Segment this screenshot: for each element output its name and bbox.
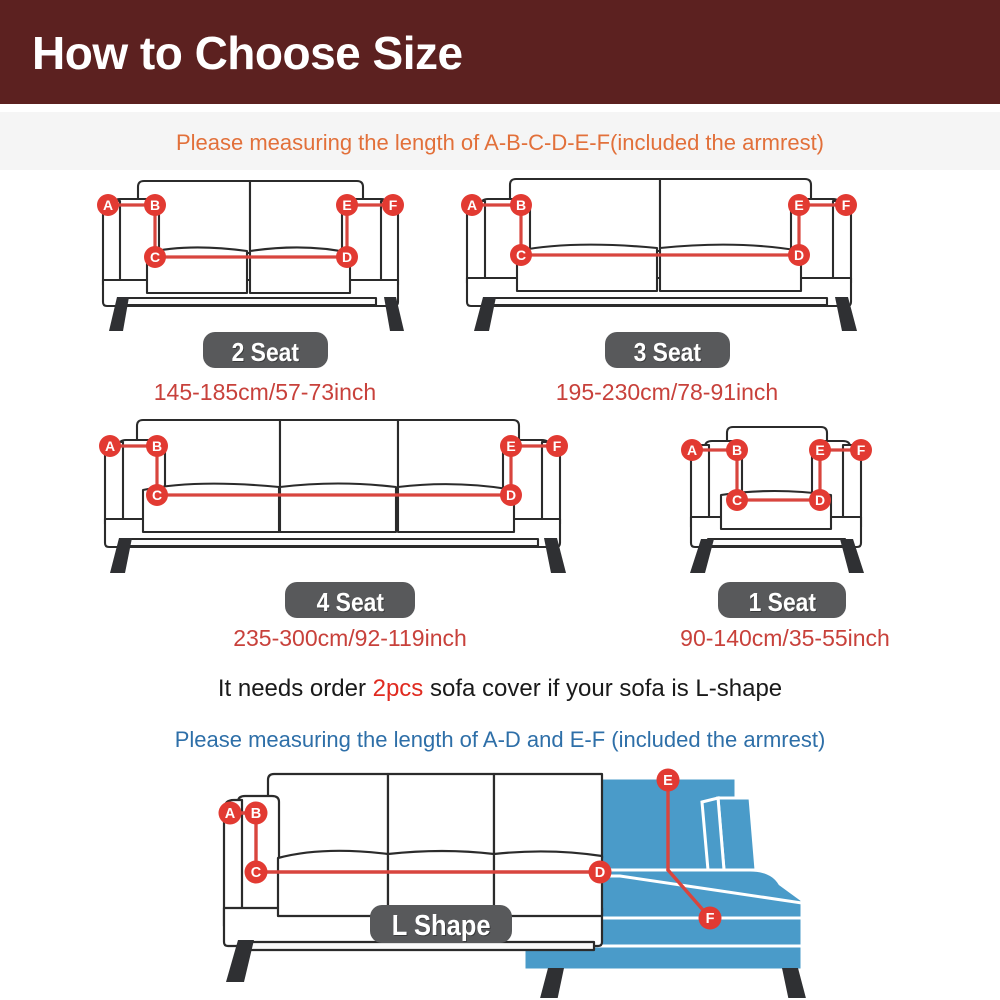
marker-label-f: F xyxy=(553,438,562,454)
marker-label-f: F xyxy=(706,911,715,927)
marker-label-e: E xyxy=(342,197,351,213)
one-seat-sofa-illustration: A B C D E F xyxy=(655,425,905,585)
badge-three-seat: 3 Seat xyxy=(605,332,730,368)
lshape-note-highlight: 2pcs xyxy=(373,675,424,702)
page-header: How to Choose Size xyxy=(0,0,1000,104)
sofa-card-one-seat: A B C D E F xyxy=(655,425,905,585)
marker-label-e: E xyxy=(815,442,824,458)
dims-two-seat: 145-185cm/57-73inch xyxy=(70,379,460,406)
lshape-sofa-illustration: A B C D E F xyxy=(190,758,830,998)
sofa-card-four-seat: A B C D E F xyxy=(95,418,575,583)
dims-one-seat: 90-140cm/35-55inch xyxy=(625,625,945,652)
badge-one-seat: 1 Seat xyxy=(718,582,846,618)
marker-label-a: A xyxy=(687,442,697,458)
two-seat-sofa-illustration: A B C D E F xyxy=(95,175,425,340)
marker-label-c: C xyxy=(732,492,742,508)
dims-three-seat: 195-230cm/78-91inch xyxy=(472,379,862,406)
marker-label-c: C xyxy=(251,865,262,881)
lshape-note-suffix: sofa cover if your sofa is L-shape xyxy=(423,675,782,702)
lshape-instruction: Please measuring the length of A-D and E… xyxy=(0,727,1000,753)
marker-label-f: F xyxy=(389,197,398,213)
lshape-note-prefix: It needs order xyxy=(218,675,373,702)
marker-label-f: F xyxy=(857,442,866,458)
marker-label-e: E xyxy=(794,197,803,213)
marker-label-b: B xyxy=(516,197,526,213)
badge-lshape: L Shape xyxy=(370,905,512,943)
four-seat-sofa-illustration: A B C D E F xyxy=(95,418,575,583)
marker-label-f: F xyxy=(842,197,851,213)
marker-label-c: C xyxy=(152,487,162,503)
size-guide-page: How to Choose Size Please measuring the … xyxy=(0,0,1000,1000)
lshape-note: It needs order 2pcs sofa cover if your s… xyxy=(0,675,1000,703)
marker-label-b: B xyxy=(152,438,162,454)
marker-label-b: B xyxy=(150,197,160,213)
sofa-card-two-seat: A B C D E F xyxy=(95,175,425,340)
lshape-chaise-legs xyxy=(538,968,808,998)
marker-label-b: B xyxy=(732,442,742,458)
marker-label-d: D xyxy=(815,492,825,508)
sofa-card-three-seat: A B C D E F xyxy=(455,175,875,340)
marker-label-e: E xyxy=(506,438,515,454)
badge-two-seat: 2 Seat xyxy=(203,332,328,368)
marker-label-a: A xyxy=(225,806,236,822)
marker-label-a: A xyxy=(103,197,113,213)
marker-label-b: B xyxy=(251,806,261,822)
marker-label-d: D xyxy=(342,249,352,265)
three-seat-sofa-illustration: A B C D E F xyxy=(455,175,875,340)
marker-label-d: D xyxy=(794,247,804,263)
marker-label-a: A xyxy=(105,438,115,454)
badge-four-seat: 4 Seat xyxy=(285,582,415,618)
marker-label-c: C xyxy=(150,249,160,265)
page-title: How to Choose Size xyxy=(32,27,463,79)
sofa-card-lshape: A B C D E F xyxy=(190,758,830,998)
marker-label-a: A xyxy=(467,197,477,213)
dims-four-seat: 235-300cm/92-119inch xyxy=(145,625,555,652)
instruction-band-text: Please measuring the length of A-B-C-D-E… xyxy=(0,130,1000,156)
marker-label-e: E xyxy=(663,773,673,789)
marker-label-c: C xyxy=(516,247,526,263)
marker-label-d: D xyxy=(506,487,516,503)
marker-label-d: D xyxy=(595,865,605,881)
